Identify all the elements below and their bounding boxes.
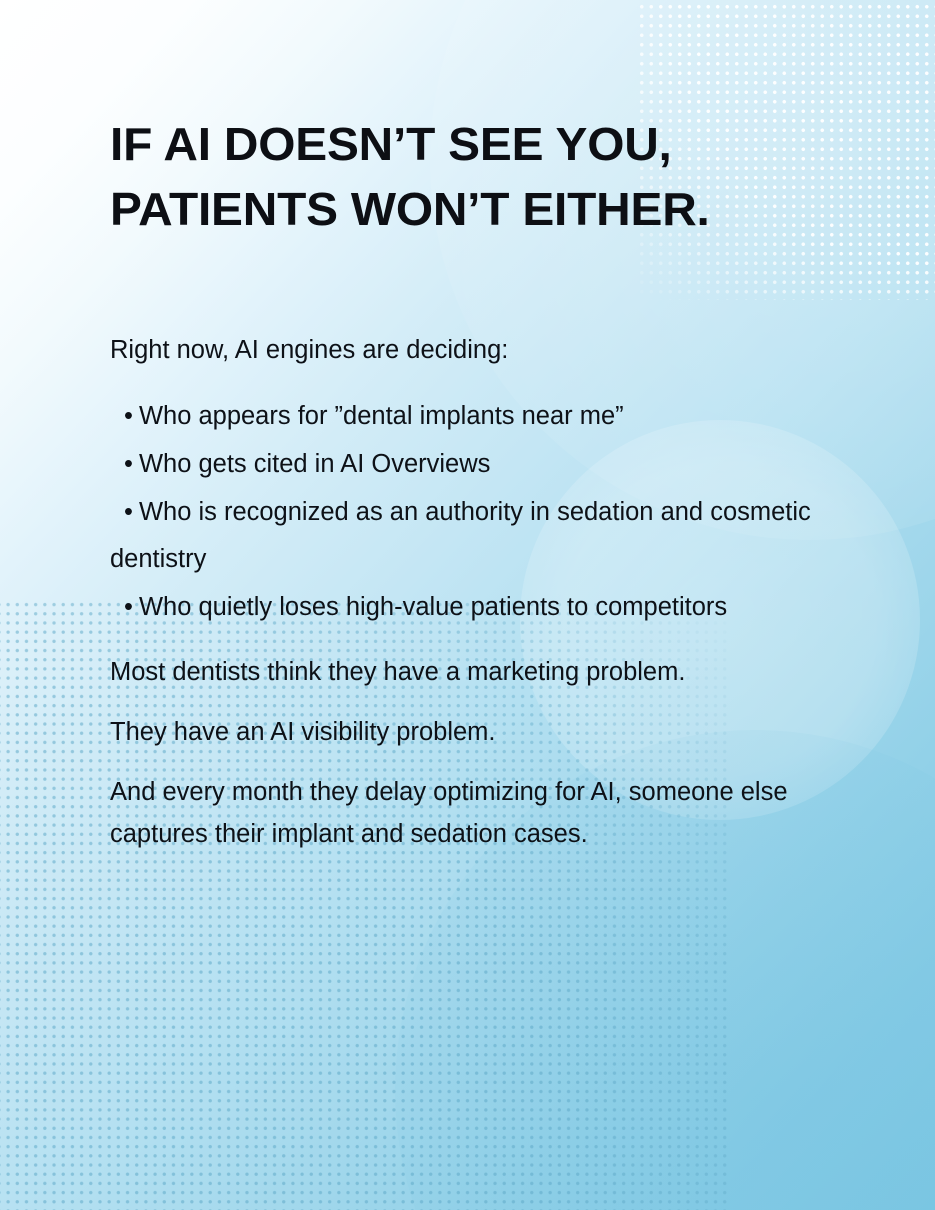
list-item-label: Who gets cited in AI Overviews <box>139 450 490 478</box>
body-copy: Right now, AI engines are deciding: •Who… <box>110 330 850 855</box>
list-item: •Who appears for ”dental implants near m… <box>110 393 850 441</box>
headline-line-1: IF AI DOESN’T SEE YOU, <box>110 112 880 177</box>
closing-paragraph-group: Most dentists think they have a marketin… <box>110 652 850 855</box>
list-item: •Who gets cited in AI Overviews <box>110 441 850 489</box>
headline-line-2: PATIENTS WON’T EITHER. <box>110 177 880 242</box>
bullet-icon: • <box>124 450 133 478</box>
closing-paragraph: Most dentists think they have a marketin… <box>110 652 850 693</box>
slide-canvas: IF AI DOESN’T SEE YOU, PATIENTS WON’T EI… <box>0 0 935 1210</box>
list-item-label: Who is recognized as an authority in sed… <box>110 498 811 574</box>
list-item-label: Who appears for ”dental implants near me… <box>139 402 624 430</box>
bullet-icon: • <box>124 402 133 430</box>
closing-paragraph: And every month they delay optimizing fo… <box>110 772 850 855</box>
list-item: •Who is recognized as an authority in se… <box>110 489 850 584</box>
closing-paragraph: They have an AI visibility problem. <box>110 712 850 753</box>
content-column: IF AI DOESN’T SEE YOU, PATIENTS WON’T EI… <box>110 0 850 1210</box>
list-item: •Who quietly loses high-value patients t… <box>110 584 850 632</box>
intro-paragraph: Right now, AI engines are deciding: <box>110 330 850 371</box>
bullet-icon: • <box>124 498 133 526</box>
page-title: IF AI DOESN’T SEE YOU, PATIENTS WON’T EI… <box>110 112 850 243</box>
bullet-icon: • <box>124 593 133 621</box>
deciding-bullet-list: •Who appears for ”dental implants near m… <box>110 393 850 631</box>
list-item-label: Who quietly loses high-value patients to… <box>139 593 727 621</box>
